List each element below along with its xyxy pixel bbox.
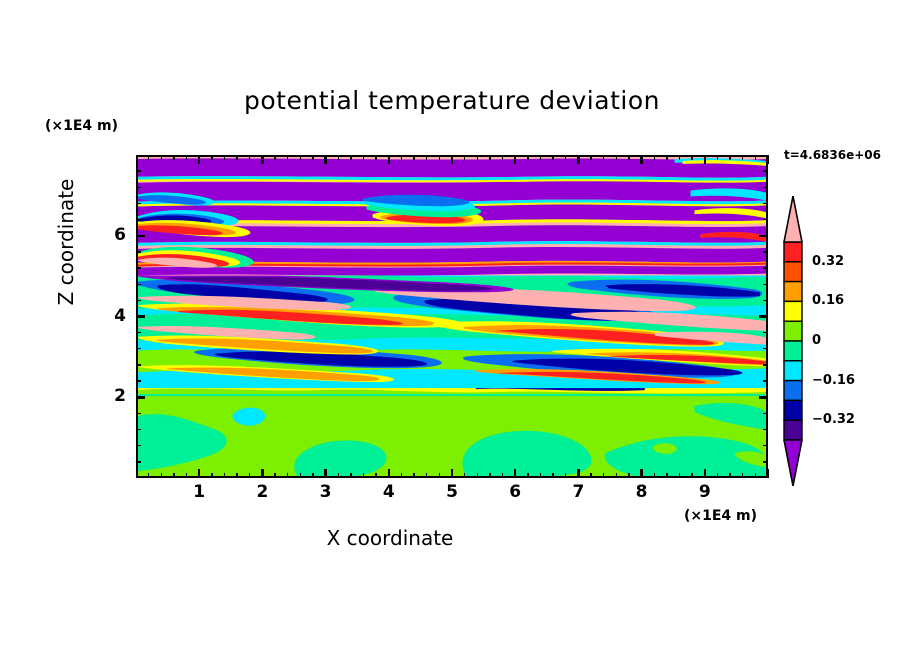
tick-mark: [136, 396, 145, 399]
tick-mark: [136, 364, 141, 365]
tick-mark: [161, 473, 162, 478]
time-annotation: t=4.6836e+06: [784, 148, 881, 162]
tick-mark: [161, 155, 162, 160]
tick-mark: [767, 469, 770, 478]
tick-mark: [654, 473, 655, 478]
tick-mark: [249, 473, 250, 478]
tick-mark: [552, 473, 553, 478]
tick-mark: [363, 155, 364, 160]
tick-mark: [514, 155, 517, 164]
tick-mark: [616, 155, 617, 160]
chart-title: potential temperature deviation: [0, 86, 904, 115]
tick-mark: [439, 473, 440, 478]
tick-mark: [590, 473, 591, 478]
tick-mark: [763, 348, 768, 349]
tick-mark: [640, 469, 643, 478]
x-tick-label: 1: [179, 482, 219, 502]
tick-mark: [186, 155, 187, 160]
tick-mark: [759, 315, 768, 318]
tick-mark: [136, 170, 141, 171]
tick-mark: [451, 155, 454, 164]
tick-mark: [136, 461, 141, 462]
tick-mark: [552, 155, 553, 160]
colorbar-band: [784, 361, 802, 381]
tick-mark: [338, 473, 339, 478]
tick-mark: [704, 469, 707, 478]
tick-mark: [704, 155, 707, 164]
colorbar-tick-label: 0.32: [812, 254, 844, 269]
x-axis-title: X coordinate: [0, 526, 780, 550]
tick-mark: [691, 155, 692, 160]
tick-mark: [527, 473, 528, 478]
tick-mark: [413, 473, 414, 478]
tick-mark: [136, 380, 141, 381]
tick-mark: [236, 473, 237, 478]
colorbar-band: [784, 400, 802, 420]
tick-mark: [763, 267, 768, 268]
tick-mark: [451, 469, 454, 478]
tick-mark: [224, 473, 225, 478]
tick-mark: [640, 155, 643, 164]
tick-mark: [249, 155, 250, 160]
tick-mark: [763, 445, 768, 446]
tick-mark: [759, 235, 768, 238]
contour-plot-area: [136, 155, 768, 478]
tick-mark: [464, 155, 465, 160]
tick-mark: [729, 473, 730, 478]
tick-mark: [350, 473, 351, 478]
colorbar-tick-label: 0: [812, 333, 821, 348]
tick-mark: [565, 473, 566, 478]
colorbar-tick-label: −0.32: [812, 412, 855, 427]
tick-mark: [350, 155, 351, 160]
tick-mark: [324, 155, 327, 164]
y-axis-title: Z coordinate: [54, 152, 78, 332]
tick-mark: [388, 155, 391, 164]
tick-mark: [763, 187, 768, 188]
tick-mark: [477, 473, 478, 478]
tick-mark: [211, 473, 212, 478]
tick-mark: [679, 155, 680, 160]
x-tick-label: 5: [432, 482, 472, 502]
x-tick-label: 3: [306, 482, 346, 502]
tick-mark: [489, 155, 490, 160]
tick-mark: [616, 473, 617, 478]
tick-mark: [603, 473, 604, 478]
tick-mark: [136, 315, 145, 318]
tick-mark: [136, 445, 141, 446]
x-tick-label: 4: [369, 482, 409, 502]
tick-mark: [679, 473, 680, 478]
colorbar-band: [784, 321, 802, 341]
colorbar-tick-label: −0.16: [812, 373, 855, 388]
tick-mark: [502, 473, 503, 478]
tick-mark: [388, 469, 391, 478]
tick-mark: [300, 473, 301, 478]
tick-mark: [514, 469, 517, 478]
tick-mark: [136, 300, 141, 301]
tick-mark: [198, 469, 201, 478]
tick-mark: [261, 155, 264, 164]
tick-mark: [477, 155, 478, 160]
x-tick-label: 9: [685, 482, 725, 502]
colorbar: [783, 196, 803, 486]
y-tick-label: 6: [96, 225, 126, 245]
colorbar-tick-label: 0.16: [812, 293, 844, 308]
tick-mark: [565, 155, 566, 160]
y-tick-label: 4: [96, 306, 126, 326]
tick-mark: [717, 155, 718, 160]
tick-mark: [577, 155, 580, 164]
colorbar-band: [784, 301, 802, 321]
tick-mark: [763, 461, 768, 462]
tick-mark: [186, 473, 187, 478]
z-axis-unit-label: (×1E4 m): [45, 118, 118, 134]
tick-mark: [759, 396, 768, 399]
tick-mark: [413, 155, 414, 160]
tick-mark: [375, 473, 376, 478]
tick-mark: [136, 429, 141, 430]
tick-mark: [590, 155, 591, 160]
tick-mark: [666, 473, 667, 478]
x-tick-label: 6: [495, 482, 535, 502]
tick-mark: [763, 284, 768, 285]
tick-mark: [763, 364, 768, 365]
colorbar-band: [784, 282, 802, 302]
tick-mark: [136, 187, 141, 188]
tick-mark: [763, 413, 768, 414]
tick-mark: [173, 155, 174, 160]
tick-mark: [464, 473, 465, 478]
contour-field: [138, 157, 766, 476]
tick-mark: [763, 300, 768, 301]
colorbar-band: [784, 242, 802, 262]
tick-mark: [287, 473, 288, 478]
colorbar-band: [784, 381, 802, 401]
tick-mark: [628, 473, 629, 478]
x-tick-label: 7: [558, 482, 598, 502]
tick-mark: [274, 155, 275, 160]
tick-mark: [401, 155, 402, 160]
tick-mark: [755, 155, 756, 160]
tick-mark: [148, 155, 149, 160]
tick-mark: [211, 155, 212, 160]
tick-mark: [666, 155, 667, 160]
x-axis-unit-label: (×1E4 m): [684, 508, 757, 524]
tick-mark: [338, 155, 339, 160]
tick-mark: [274, 473, 275, 478]
tick-mark: [729, 155, 730, 160]
tick-mark: [300, 155, 301, 160]
x-tick-label: 8: [622, 482, 662, 502]
tick-mark: [136, 251, 141, 252]
x-tick-label: 2: [242, 482, 282, 502]
tick-mark: [363, 473, 364, 478]
tick-mark: [767, 155, 770, 164]
tick-mark: [763, 380, 768, 381]
tick-mark: [401, 473, 402, 478]
tick-mark: [577, 469, 580, 478]
y-tick-label: 2: [96, 386, 126, 406]
colorbar-band: [784, 420, 802, 440]
tick-mark: [763, 332, 768, 333]
tick-mark: [136, 203, 141, 204]
tick-mark: [426, 155, 427, 160]
tick-mark: [198, 155, 201, 164]
tick-mark: [439, 155, 440, 160]
tick-mark: [136, 413, 141, 414]
tick-mark: [603, 155, 604, 160]
tick-mark: [287, 155, 288, 160]
tick-mark: [540, 473, 541, 478]
tick-mark: [136, 284, 141, 285]
tick-mark: [489, 473, 490, 478]
tick-mark: [261, 469, 264, 478]
tick-mark: [691, 473, 692, 478]
tick-mark: [136, 235, 145, 238]
tick-mark: [148, 473, 149, 478]
tick-mark: [312, 155, 313, 160]
tick-mark: [763, 251, 768, 252]
tick-mark: [136, 332, 141, 333]
tick-mark: [375, 155, 376, 160]
tick-mark: [324, 469, 327, 478]
tick-mark: [717, 473, 718, 478]
tick-mark: [763, 219, 768, 220]
tick-mark: [742, 155, 743, 160]
tick-mark: [763, 429, 768, 430]
tick-mark: [136, 348, 141, 349]
tick-mark: [540, 155, 541, 160]
colorbar-band: [784, 262, 802, 282]
tick-mark: [763, 170, 768, 171]
tick-mark: [173, 473, 174, 478]
tick-mark: [628, 155, 629, 160]
tick-mark: [312, 473, 313, 478]
tick-mark: [502, 155, 503, 160]
tick-mark: [527, 155, 528, 160]
tick-mark: [742, 473, 743, 478]
colorbar-band: [784, 341, 802, 361]
tick-mark: [236, 155, 237, 160]
tick-mark: [136, 219, 141, 220]
tick-mark: [654, 155, 655, 160]
tick-mark: [755, 473, 756, 478]
tick-mark: [224, 155, 225, 160]
tick-mark: [763, 203, 768, 204]
tick-mark: [426, 473, 427, 478]
tick-mark: [136, 267, 141, 268]
